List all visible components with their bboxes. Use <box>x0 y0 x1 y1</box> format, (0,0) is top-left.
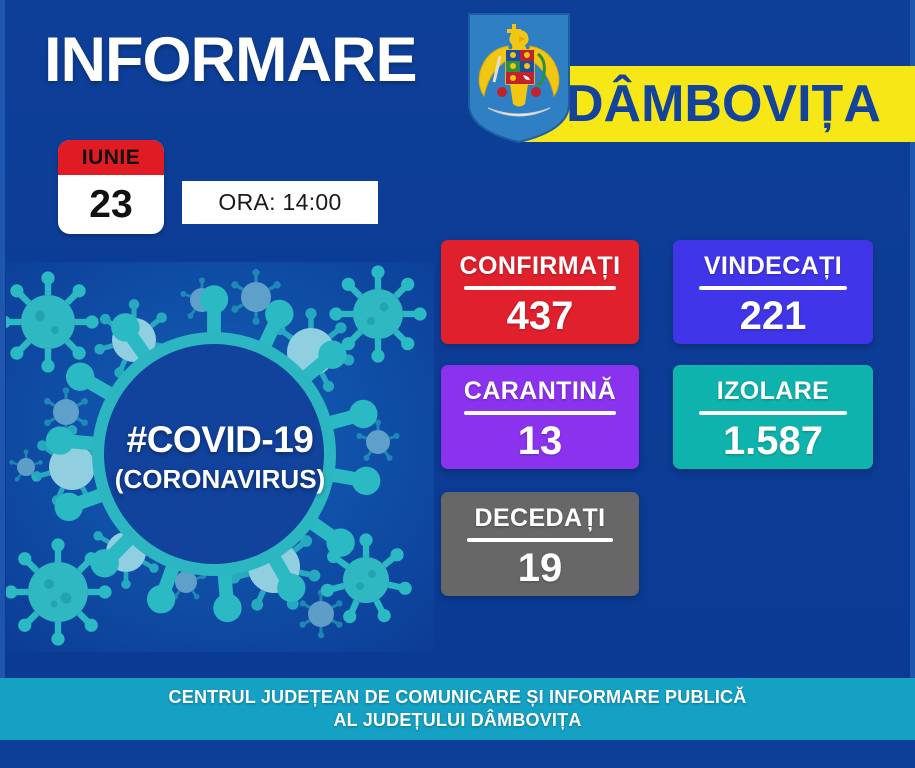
stat-label: IZOLARE <box>717 377 830 406</box>
calendar-date: IUNIE 23 <box>58 140 164 234</box>
stat-value: 13 <box>518 419 563 464</box>
stat-label: CARANTINĂ <box>464 377 616 406</box>
stat-value: 1.587 <box>723 419 823 464</box>
stat-divider <box>464 286 616 290</box>
time-label: ORA: 14:00 <box>182 181 378 224</box>
stat-divider <box>699 286 847 290</box>
stat-divider <box>699 411 847 415</box>
calendar-month: IUNIE <box>58 140 164 175</box>
footer-banner: CENTRUL JUDEȚEAN DE COMUNICARE ȘI INFORM… <box>0 678 915 740</box>
stat-card-vindecati: VINDECAȚI 221 <box>673 240 873 344</box>
covid-information-poster: INFORMARE DÂMBOVIȚA <box>0 0 915 768</box>
stat-label: CONFIRMAȚI <box>460 252 621 281</box>
calendar-day: 23 <box>58 175 164 234</box>
stat-card-decedati: DECEDAȚI 19 <box>441 492 639 596</box>
romanian-coat-of-arms-icon <box>466 12 572 144</box>
stat-card-carantina: CARANTINĂ 13 <box>441 365 639 469</box>
stat-divider <box>467 538 613 542</box>
stat-label: DECEDAȚI <box>475 504 606 533</box>
coronavirus-illustration <box>6 262 434 652</box>
footer-line-1: CENTRUL JUDEȚEAN DE COMUNICARE ȘI INFORM… <box>169 686 747 709</box>
footer-bottom-bar <box>0 740 915 768</box>
county-name: DÂMBOVIȚA <box>566 72 906 136</box>
footer-line-2: AL JUDEȚULUI DÂMBOVIȚA <box>333 709 581 732</box>
stat-label: VINDECAȚI <box>704 252 842 281</box>
stat-value: 437 <box>507 294 574 339</box>
stat-card-confirmati: CONFIRMAȚI 437 <box>441 240 639 344</box>
stat-value: 221 <box>740 294 807 339</box>
header: INFORMARE DÂMBOVIȚA <box>0 0 915 152</box>
page-title: INFORMARE <box>44 29 416 92</box>
stat-divider <box>464 411 616 415</box>
stat-card-izolare: IZOLARE 1.587 <box>673 365 873 469</box>
stat-value: 19 <box>518 546 563 591</box>
